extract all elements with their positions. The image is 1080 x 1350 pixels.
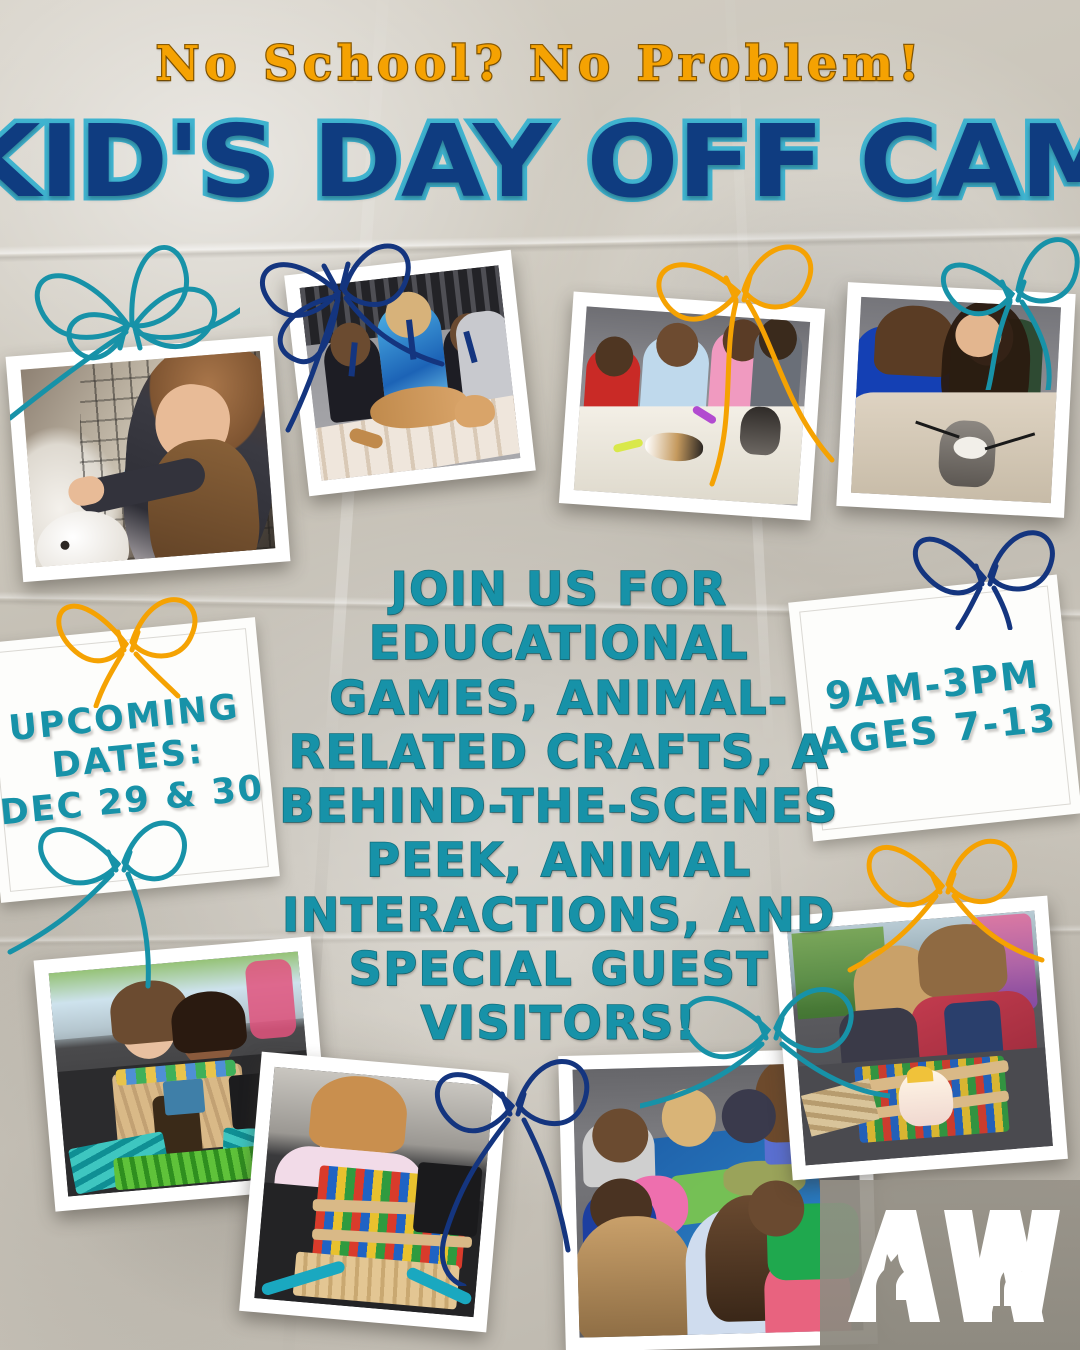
photo-girl-craft-pen bbox=[239, 1052, 509, 1333]
paper-crease bbox=[0, 224, 1080, 263]
note-upcoming-dates: UPCOMING DATES: DEC 29 & 30 bbox=[0, 617, 280, 903]
poster-canvas: No School? No Problem! KID'S DAY OFF CAM… bbox=[0, 0, 1080, 1350]
photo-kids-with-puppy bbox=[284, 250, 536, 496]
photo-kids-with-kittens bbox=[559, 291, 825, 520]
poster-kicker: No School? No Problem! bbox=[0, 36, 1080, 92]
poster-body-copy: JOIN US FOR EDUCATIONAL GAMES, ANIMAL-RE… bbox=[278, 562, 840, 1050]
poster-title: KID'S DAY OFF CAMP! bbox=[0, 112, 1080, 212]
photo-girl-with-rabbit bbox=[6, 336, 291, 582]
awa-logo bbox=[844, 1210, 1062, 1322]
photo-teens-with-kitten bbox=[836, 282, 1075, 518]
